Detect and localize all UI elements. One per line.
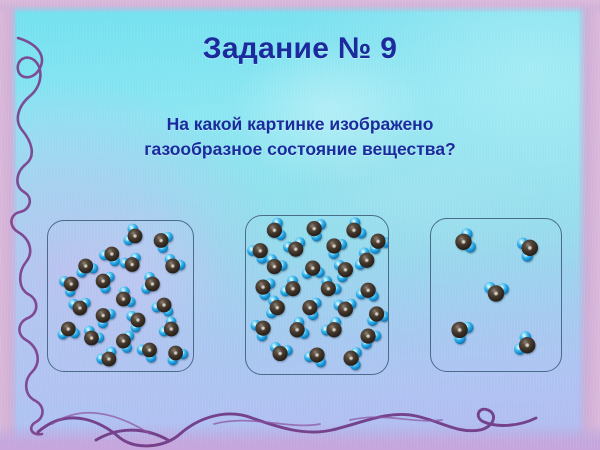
oxygen-highlight — [77, 306, 82, 311]
water-molecule — [334, 260, 353, 282]
water-molecule — [270, 342, 292, 361]
oxygen-highlight — [351, 228, 356, 233]
water-molecule — [96, 272, 115, 294]
oxygen-highlight — [147, 348, 152, 353]
water-molecule — [334, 299, 357, 317]
water-molecule — [247, 243, 268, 264]
water-molecule — [99, 247, 120, 267]
water-molecule — [451, 322, 473, 344]
oxygen-highlight — [314, 353, 319, 358]
oxygen-highlight — [261, 326, 266, 331]
water-molecule — [326, 238, 347, 259]
oxygen-highlight — [275, 305, 280, 310]
question-line-1: На какой картинке изображено — [60, 112, 540, 137]
oxygen-highlight — [332, 244, 337, 249]
water-molecule — [159, 316, 179, 336]
water-molecule — [251, 320, 271, 341]
water-molecule — [58, 322, 80, 340]
oxygen-highlight — [69, 282, 74, 287]
oxygen-highlight — [272, 264, 277, 269]
water-molecule — [96, 347, 116, 367]
oxygen-highlight — [364, 258, 369, 263]
oxygen-highlight — [170, 264, 175, 269]
water-molecule — [361, 328, 382, 349]
water-molecule — [484, 282, 509, 302]
oxygen-highlight — [461, 239, 466, 244]
oxygen-highlight — [343, 267, 348, 272]
oxygen-highlight — [169, 327, 174, 332]
oxygen-highlight — [457, 327, 462, 332]
page-title: Задание № 9 — [0, 32, 600, 66]
oxygen-highlight — [272, 228, 277, 233]
oxygen-highlight — [101, 279, 106, 284]
water-molecule — [168, 346, 189, 366]
water-molecule — [165, 254, 186, 274]
oxygen-highlight — [374, 311, 379, 316]
oxygen-highlight — [101, 313, 106, 318]
water-molecule — [152, 298, 174, 317]
water-molecule — [304, 347, 326, 367]
water-molecule — [321, 317, 342, 338]
oxygen-highlight — [295, 327, 300, 332]
answer-option-liquid[interactable] — [245, 215, 389, 375]
oxygen-highlight — [66, 327, 71, 332]
oxygen-highlight — [109, 252, 114, 257]
water-molecule — [302, 261, 325, 279]
water-molecule — [283, 237, 305, 256]
water-molecule — [455, 228, 476, 252]
oxygen-highlight — [290, 286, 295, 291]
oxygen-highlight — [343, 307, 348, 312]
water-molecule — [68, 298, 90, 316]
water-molecule — [126, 311, 145, 333]
oxygen-highlight — [310, 266, 315, 271]
oxygen-highlight — [261, 285, 266, 290]
water-molecule — [267, 218, 286, 240]
water-molecule — [266, 295, 285, 318]
oxygen-highlight — [326, 286, 331, 291]
water-molecule — [266, 254, 287, 274]
molecule-field-liquid — [246, 216, 388, 374]
oxygen-highlight — [135, 318, 140, 323]
oxygen-highlight — [366, 288, 371, 293]
oxygen-highlight — [130, 262, 135, 267]
water-molecule — [356, 283, 379, 302]
water-molecule — [137, 343, 157, 363]
oxygen-highlight — [493, 291, 498, 296]
water-molecule — [59, 276, 79, 297]
oxygen-highlight — [121, 339, 126, 344]
oxygen-highlight — [332, 327, 337, 332]
oxygen-highlight — [527, 245, 532, 250]
water-molecule — [517, 238, 538, 262]
oxygen-highlight — [133, 234, 138, 239]
oxygen-highlight — [349, 356, 354, 361]
molecule-field-gas — [431, 219, 561, 371]
oxygen-highlight — [106, 357, 111, 362]
water-molecule — [120, 253, 141, 272]
oxygen-highlight — [121, 297, 126, 302]
water-molecule — [141, 272, 160, 294]
oxygen-highlight — [173, 351, 178, 356]
question-line-2: газообразное состояние вещества? — [60, 137, 540, 162]
oxygen-highlight — [89, 336, 94, 341]
oxygen-highlight — [150, 282, 155, 287]
question-text: На какой картинке изображено газообразно… — [60, 112, 540, 162]
oxygen-highlight — [376, 239, 381, 244]
oxygen-highlight — [159, 238, 164, 243]
water-molecule — [307, 219, 326, 241]
oxygen-highlight — [366, 334, 371, 339]
oxygen-highlight — [162, 303, 167, 308]
oxygen-highlight — [258, 248, 263, 253]
water-molecule — [123, 224, 142, 246]
slide-canvas: Задание № 9 На какой картинке изображено… — [0, 0, 600, 450]
answer-option-solid[interactable] — [47, 220, 194, 372]
water-molecule — [116, 286, 136, 307]
oxygen-highlight — [312, 226, 317, 231]
water-molecule — [116, 331, 134, 353]
water-molecule — [370, 234, 388, 254]
water-molecule — [290, 317, 310, 339]
water-molecule — [76, 259, 98, 278]
oxygen-highlight — [278, 351, 283, 356]
oxygen-highlight — [83, 264, 88, 269]
water-molecule — [302, 298, 321, 320]
water-molecule — [346, 217, 366, 238]
water-molecule — [84, 326, 104, 346]
water-molecule — [280, 276, 300, 297]
water-molecule — [154, 232, 173, 253]
water-molecule — [514, 331, 535, 354]
answer-option-gas[interactable] — [430, 218, 562, 372]
oxygen-highlight — [307, 305, 312, 310]
water-molecule — [96, 308, 116, 328]
oxygen-highlight — [293, 247, 298, 252]
water-molecule — [343, 347, 361, 370]
water-molecule — [367, 306, 388, 325]
molecule-field-solid — [48, 221, 193, 371]
oxygen-highlight — [524, 342, 529, 347]
